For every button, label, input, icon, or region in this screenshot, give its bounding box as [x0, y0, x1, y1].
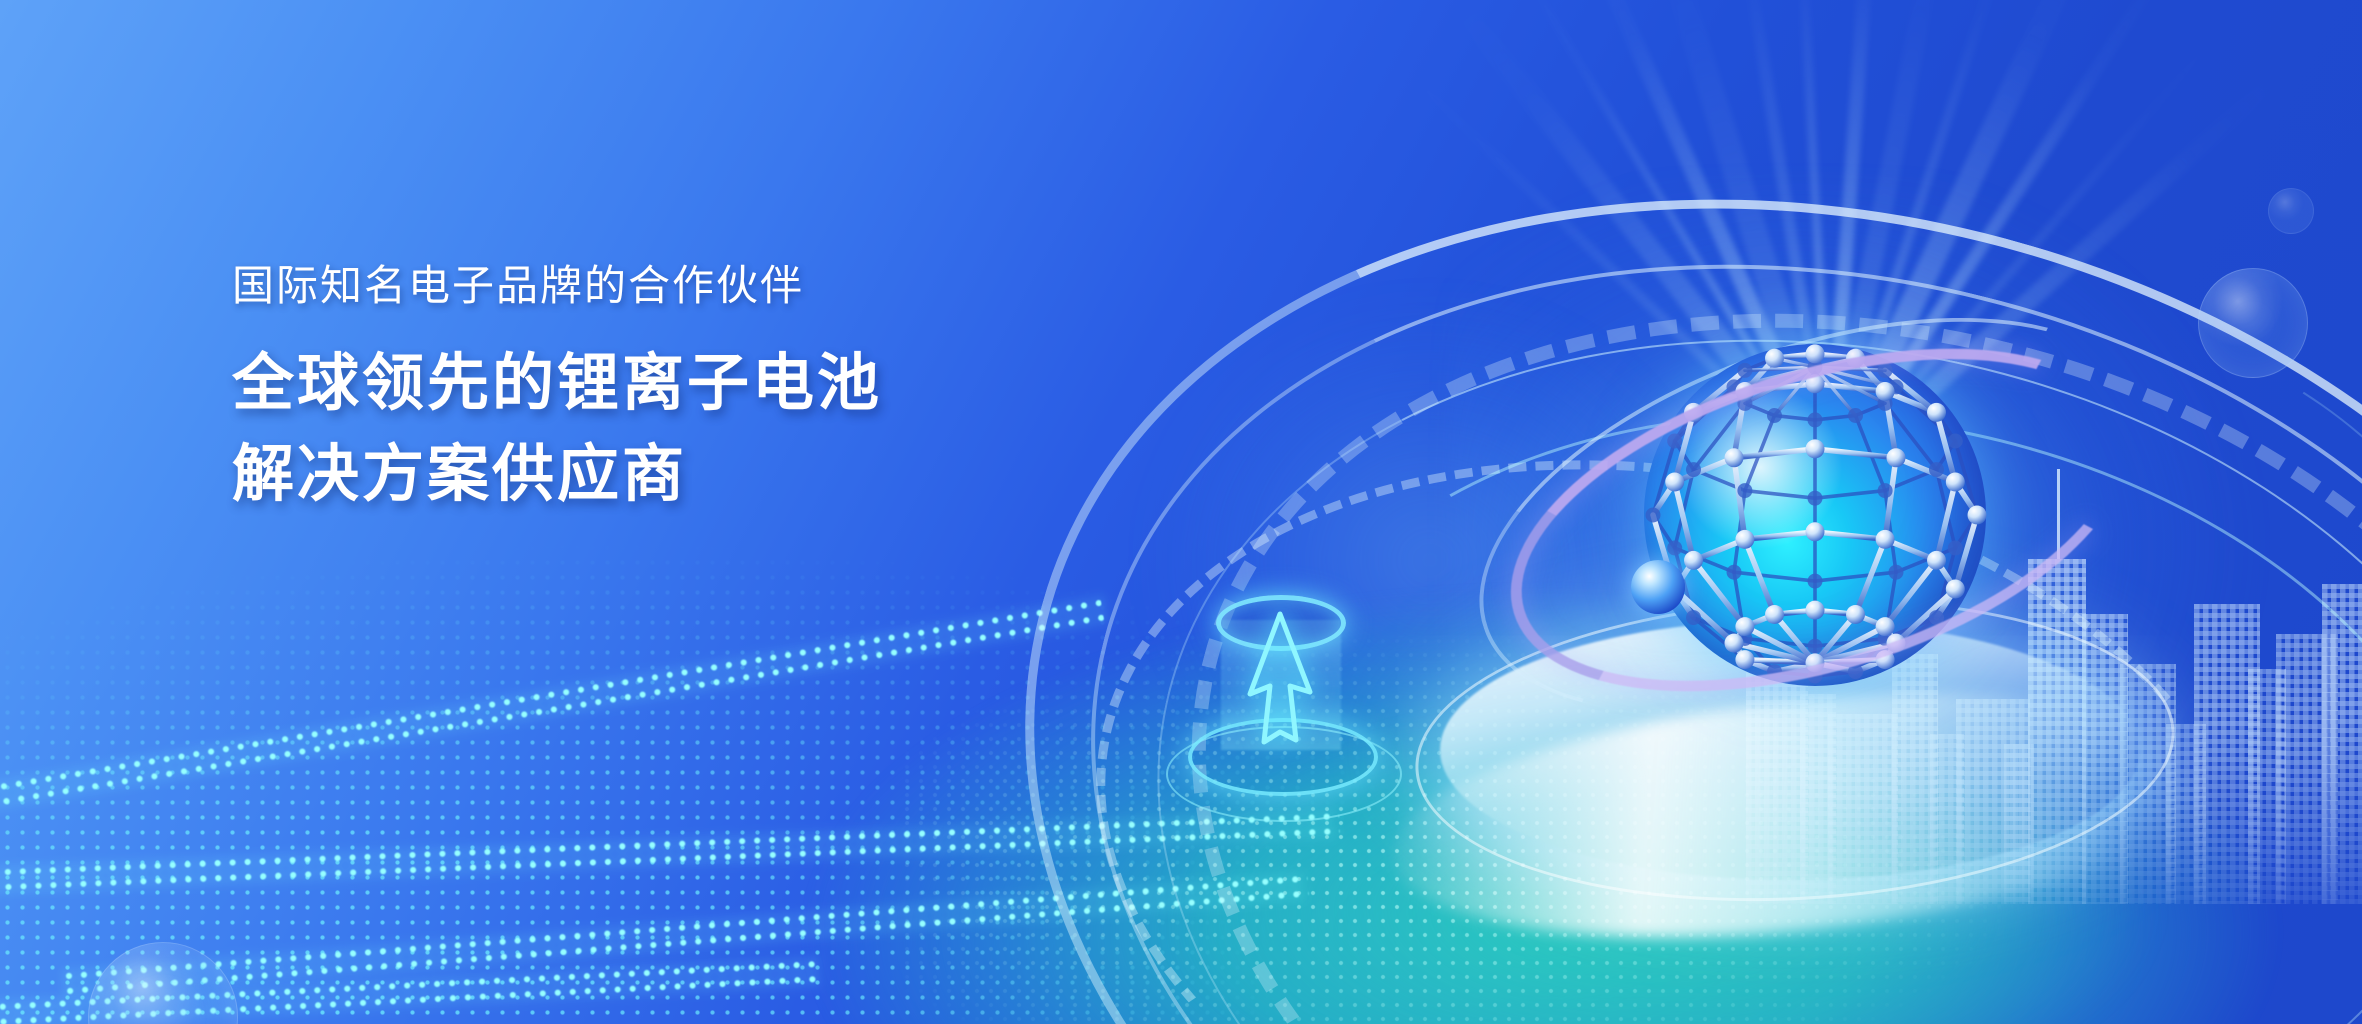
globe-node — [1806, 344, 1825, 363]
banner-eyebrow: 国际知名电子品牌的合作伙伴 — [232, 262, 882, 309]
glass-bubble — [2198, 268, 2308, 378]
orbit-node-sphere — [1631, 560, 1685, 614]
banner-copy: 国际知名电子品牌的合作伙伴 全球领先的锂离子电池 解决方案供应商 — [232, 262, 882, 520]
globe-node — [1737, 363, 1752, 378]
globe-node — [1765, 349, 1784, 368]
headline-line-1: 全球领先的锂离子电池 — [232, 339, 882, 430]
cursor-arrow-icon — [1240, 600, 1320, 770]
banner-headline: 全球领先的锂离子电池 解决方案供应商 — [232, 339, 882, 520]
glass-bubble — [2268, 188, 2314, 234]
hero-banner: 国际知名电子品牌的合作伙伴 全球领先的锂离子电池 解决方案供应商 — [0, 0, 2362, 1024]
headline-line-2: 解决方案供应商 — [232, 430, 882, 521]
